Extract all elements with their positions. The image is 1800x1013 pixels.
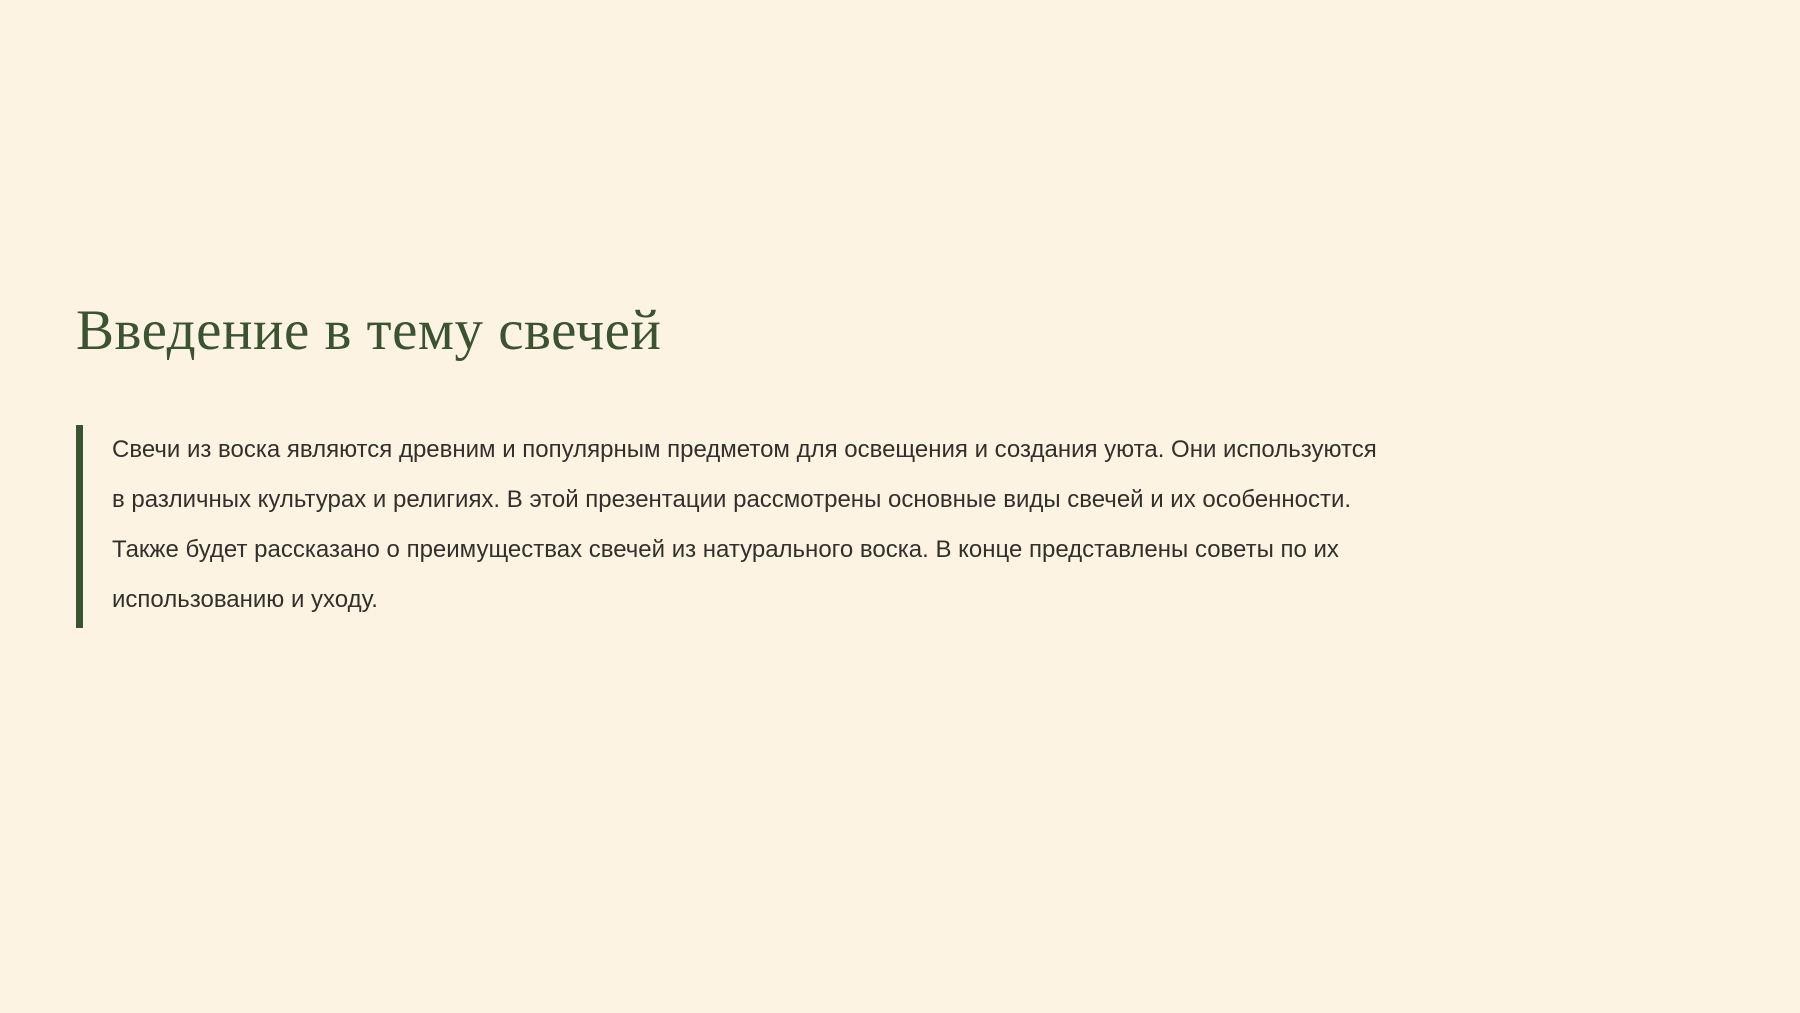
slide-content-block: Введение в тему свечей Свечи из воска яв… xyxy=(76,300,1756,625)
accent-bar xyxy=(76,425,83,628)
presentation-slide: Введение в тему свечей Свечи из воска яв… xyxy=(0,0,1800,1013)
body-text-container: Свечи из воска являются древним и популя… xyxy=(76,425,1756,625)
body-line: в различных культурах и религиях. В этой… xyxy=(112,475,1756,525)
body-line: использованию и уходу. xyxy=(112,575,1756,625)
body-line: Свечи из воска являются древним и популя… xyxy=(112,425,1756,475)
page-title: Введение в тему свечей xyxy=(76,300,1756,362)
body-line: Также будет рассказано о преимуществах с… xyxy=(112,525,1756,575)
body-paragraph: Свечи из воска являются древним и популя… xyxy=(112,425,1756,625)
